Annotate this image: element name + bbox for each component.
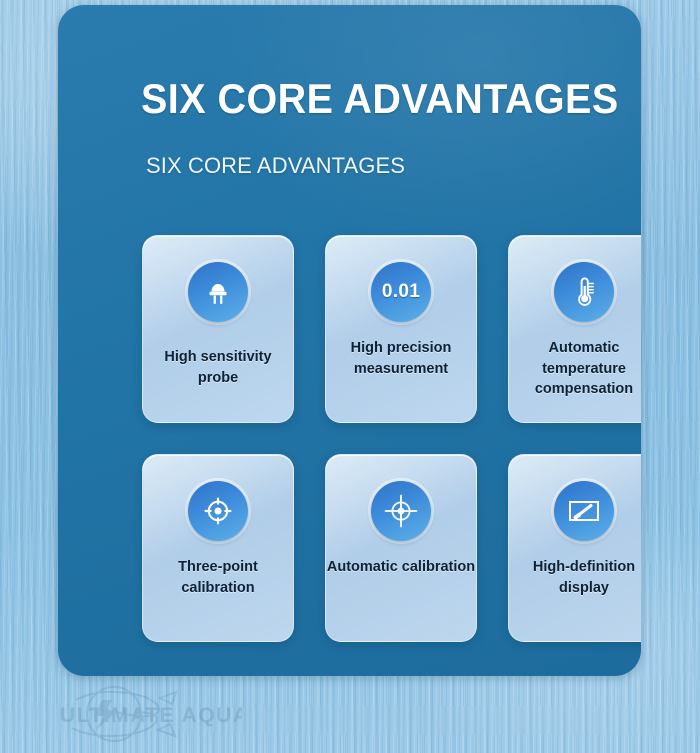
page-subtitle: SIX CORE ADVANTAGES [146,153,405,179]
display-icon [554,481,614,541]
target-scope-icon [371,481,431,541]
led-probe-icon [188,262,248,322]
advantage-card-label: High sensitivity probe [143,347,293,388]
advantage-card-three-point-calibration[interactable]: Three-point calibration [142,454,294,642]
advantage-card-label: High precision measurement [326,338,476,379]
advantage-card-label: High-definition display [509,557,641,598]
advantage-card-automatic-temperature-compensation[interactable]: Automatic temperature compensation [508,235,641,423]
crosshair-icon [188,481,248,541]
advantages-row-2: Three-point calibration Automatic calibr… [142,454,612,642]
thermometer-icon [554,262,614,322]
page-title: SIX CORE ADVANTAGES [141,75,619,123]
advantage-card-high-precision-measurement[interactable]: 0.01 High precision measurement [325,235,477,423]
advantage-card-label: Automatic calibration [326,557,476,578]
advantages-panel: SIX CORE ADVANTAGES SIX CORE ADVANTAGES … [58,5,641,676]
advantage-card-label: Automatic temperature compensation [509,338,641,400]
advantages-grid: High sensitivity probe 0.01 High precisi… [142,235,612,642]
precision-icon: 0.01 [371,262,431,322]
svg-text:ULTIMATE AQUA: ULTIMATE AQUA [60,704,242,727]
advantage-card-automatic-calibration[interactable]: Automatic calibration [325,454,477,642]
advantage-card-high-sensitivity-probe[interactable]: High sensitivity probe [142,235,294,423]
watermark-ultimate-aqua: ULTIMATE AQUA [42,684,242,746]
advantages-row-1: High sensitivity probe 0.01 High precisi… [142,235,612,423]
advantage-card-high-definition-display[interactable]: High-definition display [508,454,641,642]
precision-value: 0.01 [382,281,420,303]
advantage-card-label: Three-point calibration [143,557,293,598]
